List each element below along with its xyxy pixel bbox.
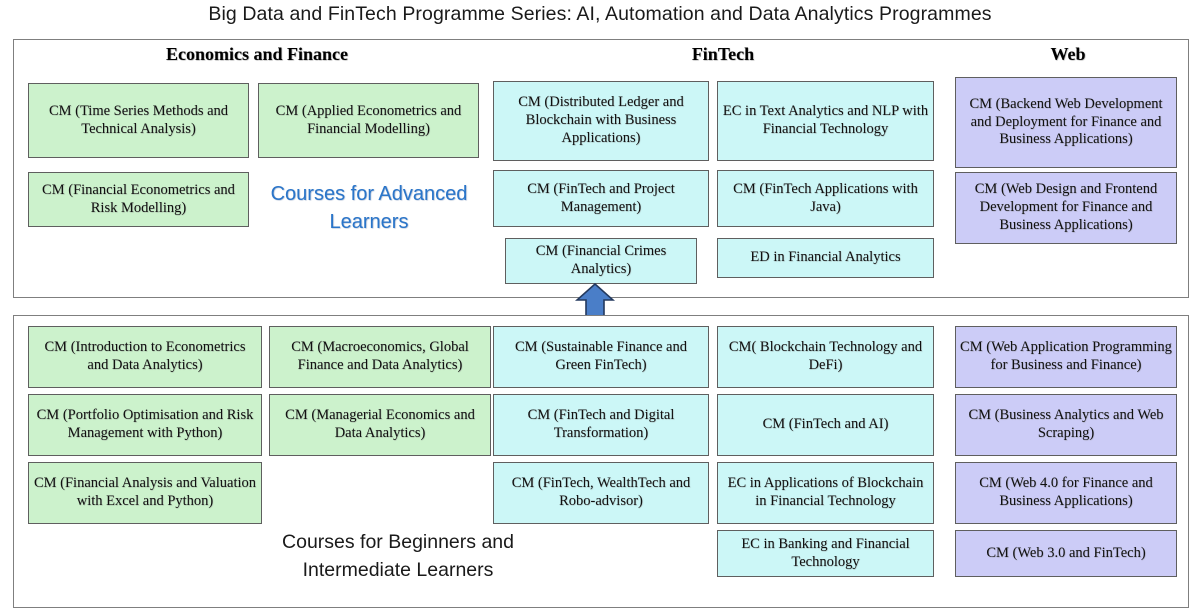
course-box[interactable]: CM (Backend Web Development and Deployme… [955,77,1177,168]
course-box[interactable]: CM (Applied Econometrics and Financial M… [258,83,479,158]
course-box[interactable]: CM (Sustainable Finance and Green FinTec… [493,326,709,388]
up-arrow-icon [575,283,615,317]
course-box[interactable]: CM (Web 4.0 for Finance and Business App… [955,462,1177,524]
column-header-web: Web [954,44,1182,65]
course-box[interactable]: CM (Web Application Programming for Busi… [955,326,1177,388]
course-box[interactable]: CM (Macroeconomics, Global Finance and D… [269,326,491,388]
course-box[interactable]: CM (Business Analytics and Web Scraping) [955,394,1177,456]
caption-advanced-learners: Courses for Advanced Learners [259,180,479,237]
course-box[interactable]: EC in Text Analytics and NLP with Financ… [717,81,934,161]
course-box[interactable]: CM (Financial Econometrics and Risk Mode… [28,172,249,227]
diagram-root: Big Data and FinTech Programme Series: A… [0,0,1200,612]
course-box[interactable]: CM (FinTech and AI) [717,394,934,456]
course-box[interactable]: CM (FinTech Applications with Java) [717,170,934,227]
course-box[interactable]: EC in Applications of Blockchain in Fina… [717,462,934,524]
course-box[interactable]: CM (Web 3.0 and FinTech) [955,530,1177,577]
course-box[interactable]: ED in Financial Analytics [717,238,934,278]
course-box[interactable]: CM (Financial Crimes Analytics) [505,238,697,284]
course-box[interactable]: CM (FinTech and Project Management) [493,170,709,227]
course-box[interactable]: CM (Portfolio Optimisation and Risk Mana… [28,394,262,456]
panel-beginner-intermediate-courses: CM (Introduction to Econometrics and Dat… [13,315,1189,608]
course-box[interactable]: CM (Web Design and Frontend Development … [955,172,1177,244]
course-box[interactable]: CM (Managerial Economics and Data Analyt… [269,394,491,456]
caption-beginner-intermediate-learners: Courses for Beginners and Intermediate L… [233,529,563,584]
course-box[interactable]: CM (Distributed Ledger and Blockchain wi… [493,81,709,161]
course-box[interactable]: CM (Financial Analysis and Valuation wit… [28,462,262,524]
course-box[interactable]: CM (Time Series Methods and Technical An… [28,83,249,158]
course-box[interactable]: CM (Introduction to Econometrics and Dat… [28,326,262,388]
course-box[interactable]: CM (FinTech, WealthTech and Robo-advisor… [493,462,709,524]
course-box[interactable]: EC in Banking and Financial Technology [717,530,934,577]
course-box[interactable]: CM( Blockchain Technology and DeFi) [717,326,934,388]
panel-advanced-courses: Economics and Finance FinTech Web CM (Ti… [13,39,1189,298]
column-header-fintech: FinTech [492,44,954,65]
column-header-economics-finance: Economics and Finance [22,44,492,65]
page-title: Big Data and FinTech Programme Series: A… [0,3,1200,26]
course-box[interactable]: CM (FinTech and Digital Transformation) [493,394,709,456]
